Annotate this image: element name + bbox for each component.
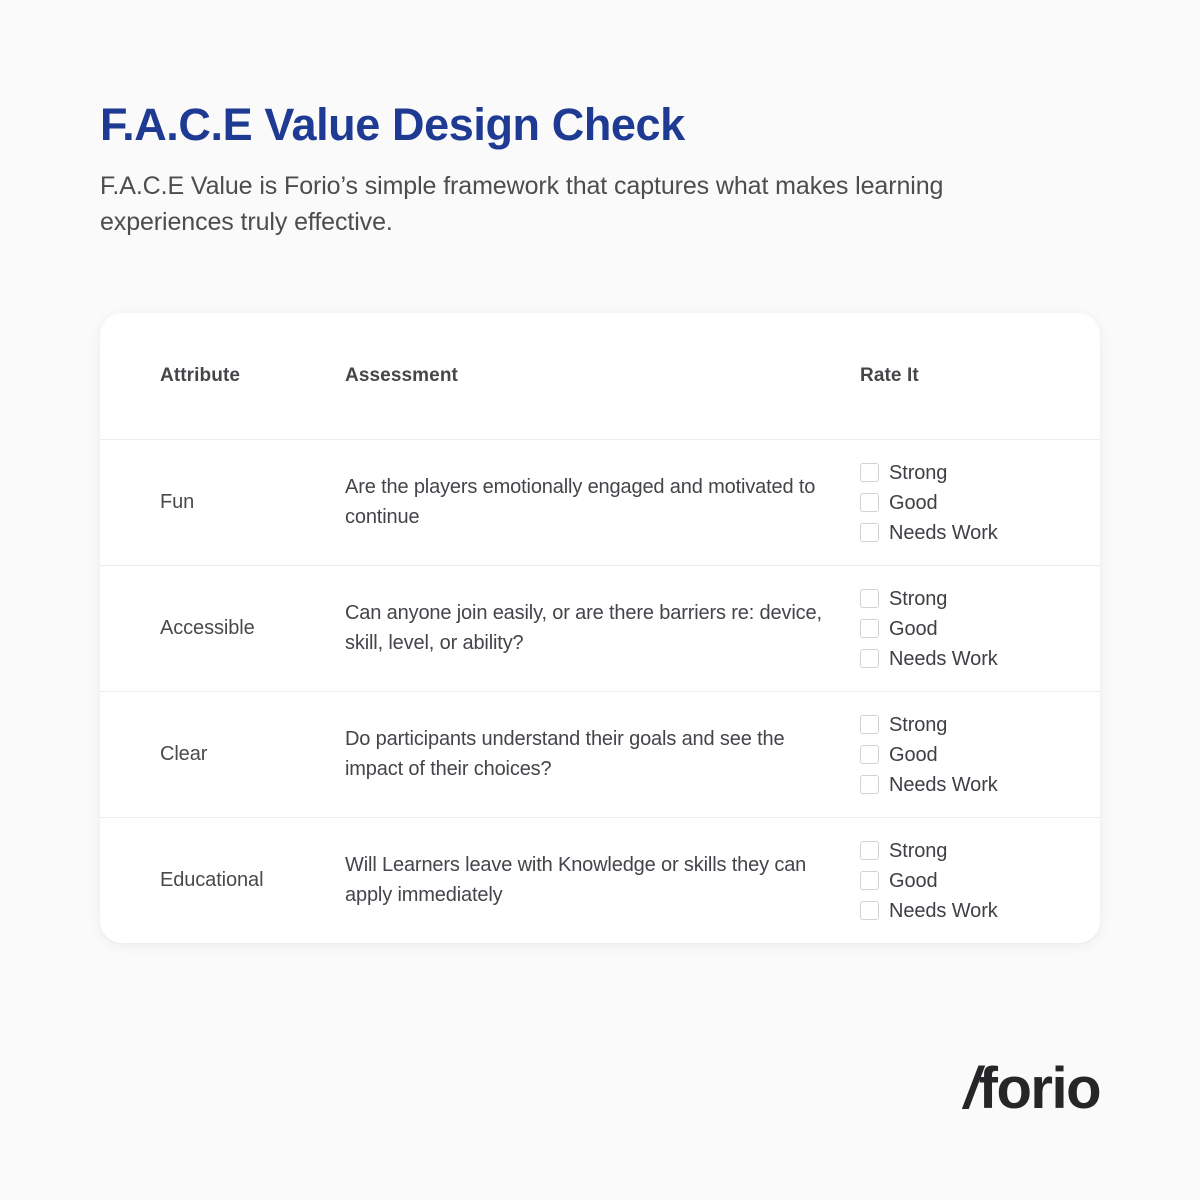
column-header-assessment: Assessment <box>345 362 860 390</box>
rating-option-needs-work[interactable]: Needs Work <box>860 649 1100 669</box>
page-subtitle: F.A.C.E Value is Forio’s simple framewor… <box>100 169 1020 240</box>
checkbox-icon[interactable] <box>860 745 879 764</box>
rating-option-needs-work[interactable]: Needs Work <box>860 775 1100 795</box>
row-rating-group: Strong Good Needs Work <box>860 715 1100 795</box>
forio-logo-slash: / <box>964 1056 979 1121</box>
checkbox-icon[interactable] <box>860 649 879 668</box>
rating-option-needs-work[interactable]: Needs Work <box>860 523 1100 543</box>
rating-option-strong[interactable]: Strong <box>860 463 1100 483</box>
rating-option-good[interactable]: Good <box>860 493 1100 513</box>
checkbox-icon[interactable] <box>860 715 879 734</box>
poster-canvas: F.A.C.E Value Design Check F.A.C.E Value… <box>0 0 1200 1200</box>
rating-option-label: Good <box>889 745 938 765</box>
rating-option-needs-work[interactable]: Needs Work <box>860 901 1100 921</box>
rating-option-strong[interactable]: Strong <box>860 841 1100 861</box>
row-attribute-label: Clear <box>160 743 345 766</box>
table-header-row: Attribute Assessment Rate It <box>100 313 1100 439</box>
row-attribute-label: Accessible <box>160 617 345 640</box>
rating-option-good[interactable]: Good <box>860 745 1100 765</box>
row-assessment-text: Will Learners leave with Knowledge or sk… <box>345 851 860 909</box>
row-assessment-text: Can anyone join easily, or are there bar… <box>345 599 860 657</box>
checkbox-icon[interactable] <box>860 493 879 512</box>
checkbox-icon[interactable] <box>860 463 879 482</box>
rating-option-label: Strong <box>889 841 947 861</box>
row-assessment-text: Do participants understand their goals a… <box>345 725 860 783</box>
checkbox-icon[interactable] <box>860 871 879 890</box>
rating-option-good[interactable]: Good <box>860 619 1100 639</box>
rating-option-label: Good <box>889 871 938 891</box>
checkbox-icon[interactable] <box>860 619 879 638</box>
rating-option-label: Needs Work <box>889 901 998 921</box>
rating-option-label: Strong <box>889 589 947 609</box>
table-row: Clear Do participants understand their g… <box>100 691 1100 817</box>
rating-option-strong[interactable]: Strong <box>860 715 1100 735</box>
checkbox-icon[interactable] <box>860 775 879 794</box>
row-assessment-text: Are the players emotionally engaged and … <box>345 473 860 531</box>
rating-option-label: Strong <box>889 715 947 735</box>
rating-option-label: Needs Work <box>889 775 998 795</box>
row-attribute-label: Educational <box>160 869 345 892</box>
rating-option-label: Good <box>889 619 938 639</box>
face-value-table: Attribute Assessment Rate It Fun Are the… <box>100 313 1100 943</box>
checkbox-icon[interactable] <box>860 523 879 542</box>
rating-option-label: Needs Work <box>889 523 998 543</box>
column-header-attribute: Attribute <box>160 365 345 387</box>
forio-logo: /forio <box>964 1060 1100 1118</box>
rating-option-strong[interactable]: Strong <box>860 589 1100 609</box>
row-attribute-label: Fun <box>160 491 345 514</box>
table-row: Accessible Can anyone join easily, or ar… <box>100 565 1100 691</box>
rating-option-label: Strong <box>889 463 947 483</box>
checkbox-icon[interactable] <box>860 901 879 920</box>
face-value-card: Attribute Assessment Rate It Fun Are the… <box>100 313 1100 943</box>
checkbox-icon[interactable] <box>860 841 879 860</box>
checkbox-icon[interactable] <box>860 589 879 608</box>
rating-option-good[interactable]: Good <box>860 871 1100 891</box>
forio-logo-word: forio <box>979 1056 1100 1121</box>
row-rating-group: Strong Good Needs Work <box>860 841 1100 921</box>
table-row: Fun Are the players emotionally engaged … <box>100 439 1100 565</box>
column-header-rate-it: Rate It <box>860 365 1100 387</box>
rating-option-label: Needs Work <box>889 649 998 669</box>
row-rating-group: Strong Good Needs Work <box>860 589 1100 669</box>
table-row: Educational Will Learners leave with Kno… <box>100 817 1100 943</box>
rating-option-label: Good <box>889 493 938 513</box>
header-block: F.A.C.E Value Design Check F.A.C.E Value… <box>100 98 1060 240</box>
row-rating-group: Strong Good Needs Work <box>860 463 1100 543</box>
page-title: F.A.C.E Value Design Check <box>100 98 1060 151</box>
